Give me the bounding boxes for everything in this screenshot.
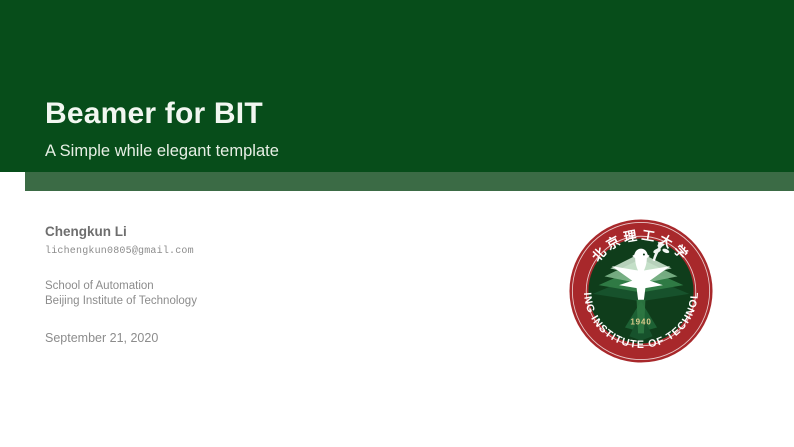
logo-founded-year: 1940	[630, 318, 651, 327]
presentation-date: September 21, 2020	[45, 332, 465, 345]
author-name: Chengkun Li	[45, 225, 465, 239]
institute-line-university: Beijing Institute of Technology	[45, 294, 465, 310]
institute-block: School of Automation Beijing Institute o…	[45, 279, 465, 311]
bit-logo: 1940 北京理工大学 BEIJING INSTITUTE OF TECHNOL…	[568, 218, 714, 364]
institute-line-department: School of Automation	[45, 279, 465, 295]
title-slide: Beamer for BIT A Simple while elegant te…	[0, 0, 794, 447]
slide-header-band: Beamer for BIT A Simple while elegant te…	[0, 0, 794, 172]
slide-subtitle: A Simple while elegant template	[45, 143, 279, 160]
author-info-block: Chengkun Li lichengkun0805@gmail.com Sch…	[45, 225, 465, 345]
author-email[interactable]: lichengkun0805@gmail.com	[45, 247, 465, 257]
slide-body: Chengkun Li lichengkun0805@gmail.com Sch…	[0, 191, 794, 447]
header-accent-bar	[25, 172, 794, 191]
slide-title: Beamer for BIT	[45, 99, 263, 129]
